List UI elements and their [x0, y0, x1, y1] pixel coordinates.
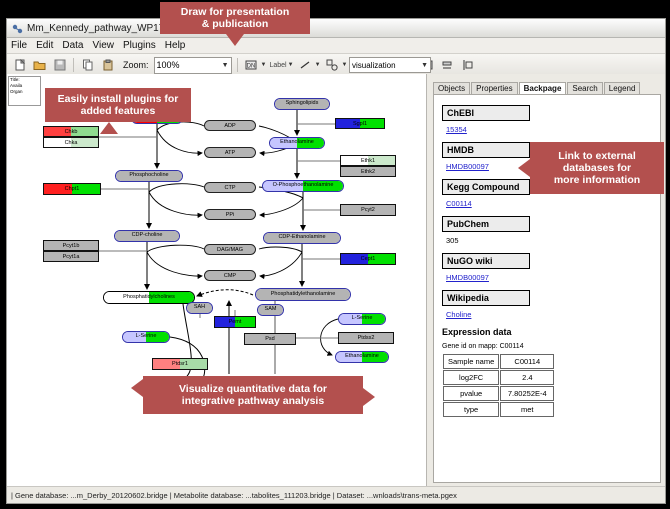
node-label: CTP — [225, 185, 236, 191]
side-panel-tabs: Objects Properties Backpage Search Legen… — [433, 80, 665, 94]
metabolite-node-ethanolamine-top[interactable]: Ethanolamine — [269, 137, 325, 149]
label-tool[interactable]: Label ▼ — [269, 62, 293, 69]
expression-row: Sample nameC00114 — [443, 354, 554, 369]
tab-properties[interactable]: Properties — [471, 82, 517, 94]
expression-row: log2FC2.4 — [443, 370, 554, 385]
datanode-icon: DN — [243, 57, 260, 74]
chevron-down-icon: ▼ — [222, 62, 229, 69]
menu-item-file[interactable]: File — [11, 40, 27, 51]
gene-node-pcyt1a[interactable]: Pcyt1a — [43, 251, 99, 262]
node-label: Ptdsr1 — [172, 361, 188, 367]
database-value-wikipedia[interactable]: Choline — [446, 310, 660, 319]
node-label: Pcyt1b — [63, 243, 80, 249]
expression-key: pvalue — [443, 386, 499, 401]
metabolite-node-sam[interactable]: SAM — [257, 304, 284, 316]
gene-node-ptdsr1[interactable]: Ptdsr1 — [152, 358, 208, 370]
database-header-hmdb: HMDB — [442, 142, 530, 158]
node-label: Cept1 — [361, 256, 376, 262]
node-label: Phosphocholine — [129, 173, 168, 179]
expression-value: 7.80252E-4 — [500, 386, 554, 401]
node-label: Chka — [65, 140, 78, 146]
datanode-tool[interactable]: DN ▼ — [243, 57, 267, 74]
chevron-down-icon-visualization: ▼ — [421, 62, 428, 69]
gene-node-pemt[interactable]: Pemt — [214, 316, 256, 328]
node-label: Ethanolamine — [345, 354, 379, 360]
gene-node-ethk1[interactable]: Ethk1 — [340, 155, 396, 166]
metabolite-node-l-serine-right[interactable]: L-Serine — [338, 313, 386, 325]
database-header-nugo-wiki: NuGO wiki — [442, 253, 530, 269]
node-label: Ethanolamine — [280, 140, 314, 146]
shape-tool[interactable]: ▼ — [324, 57, 348, 74]
metabolite-node-sah[interactable]: SAH — [186, 302, 213, 314]
expression-table: Sample nameC00114log2FC2.4pvalue7.80252E… — [442, 353, 555, 418]
node-label: Pemt — [229, 319, 242, 325]
status-bar-text: | Gene database: ...m_Derby_20120602.bri… — [11, 491, 457, 500]
expression-key: log2FC — [443, 370, 499, 385]
node-label: PPi — [226, 212, 235, 218]
zoom-select[interactable]: 100% ▼ — [154, 57, 232, 74]
paste-icon[interactable] — [99, 57, 116, 74]
node-label: CDP-choline — [132, 233, 163, 239]
pathway-canvas-panel[interactable]: Title: Availa Organ — [7, 74, 427, 487]
toolbar-separator-2 — [237, 58, 238, 72]
node-label: DAG/MAG — [217, 247, 243, 253]
database-header-pubchem: PubChem — [442, 216, 530, 232]
expression-value: 2.4 — [500, 370, 554, 385]
expression-key: type — [443, 402, 499, 417]
gene-node-cept1[interactable]: Cept1 — [340, 253, 396, 265]
expression-row: pvalue7.80252E-4 — [443, 386, 554, 401]
screenshot-root: Mm_Kennedy_pathway_WP1771_45176.gpml Fil… — [0, 0, 670, 509]
visualization-select[interactable]: visualization ▼ — [349, 57, 431, 73]
cofactor-node-ppi[interactable]: PPi — [204, 209, 256, 220]
node-label: ADP — [224, 123, 235, 129]
chevron-down-icon-line: ▼ — [315, 62, 321, 68]
node-label: CDP-Ethanolamine — [278, 235, 325, 241]
metabolite-node-phosphatidylcholines[interactable]: Phosphatidylcholines — [103, 291, 195, 304]
node-label: O-Phosphoethanolamine — [273, 183, 334, 189]
node-label: Psd — [265, 336, 274, 342]
pathvisio-window: Mm_Kennedy_pathway_WP1771_45176.gpml Fil… — [6, 18, 666, 504]
node-label: L-Serine — [136, 334, 157, 340]
metabolite-node-cdp-ethanolamine[interactable]: CDP-Ethanolamine — [263, 232, 341, 244]
metabolite-node-phosphocholine[interactable]: Phosphocholine — [115, 170, 183, 182]
metabolite-node-l-serine-left[interactable]: L-Serine — [122, 331, 170, 343]
gene-node-psd[interactable]: Psd — [244, 333, 296, 345]
gene-node-chkb[interactable]: Chkb — [43, 126, 99, 137]
tab-objects[interactable]: Objects — [433, 82, 470, 94]
gene-node-chka[interactable]: Chka — [43, 137, 99, 148]
gene-node-pcyt1b[interactable]: Pcyt1b — [43, 240, 99, 251]
node-label: Sphingolipids — [286, 101, 319, 107]
callout-visualize: Visualize quantitative data for integrat… — [143, 376, 363, 414]
main-body: Title: Availa Organ — [7, 74, 665, 487]
database-link-list: ChEBI15354HMDBHMDB00097Kegg CompoundC001… — [442, 105, 660, 319]
cofactor-node-adp[interactable]: ADP — [204, 120, 256, 131]
callout-draw-text: Draw for presentation & publication — [181, 6, 290, 30]
node-label: Chkb — [65, 129, 78, 135]
menu-item-view[interactable]: View — [92, 40, 114, 51]
zoom-value: 100% — [157, 60, 180, 70]
pathway-canvas[interactable]: Title: Availa Organ — [7, 74, 426, 487]
menu-item-help[interactable]: Help — [165, 40, 186, 51]
callout-draw: Draw for presentation & publication — [160, 2, 310, 34]
expression-value: met — [500, 402, 554, 417]
callout-draw-arrow — [226, 34, 244, 46]
node-label: Chpt1 — [65, 186, 80, 192]
database-header-chebi: ChEBI — [442, 105, 530, 121]
side-panel: Objects Properties Backpage Search Legen… — [427, 74, 665, 487]
save-disk-icon[interactable] — [51, 57, 68, 74]
database-header-wikipedia: Wikipedia — [442, 290, 530, 306]
zoom-label: Zoom: — [123, 60, 149, 70]
tab-search[interactable]: Search — [567, 82, 602, 94]
menu-bar: File Edit Data View Plugins Help — [7, 38, 665, 54]
stack-icon[interactable] — [438, 57, 455, 74]
cofactor-node-atp[interactable]: ATP — [204, 147, 256, 158]
line-icon — [297, 57, 314, 74]
node-label: Phosphatidylcholines — [123, 295, 175, 301]
node-label: Phosphatidylethanolamine — [271, 292, 336, 298]
gene-id-label: Gene id on mapp: C00114 — [442, 343, 660, 350]
cofactor-node-ctp[interactable]: CTP — [204, 182, 256, 193]
expression-key: Sample name — [443, 354, 499, 369]
database-value-pubchem: 305 — [446, 236, 660, 245]
database-value-kegg-compound[interactable]: C00114 — [446, 199, 660, 208]
node-label: Sgpl1 — [353, 121, 367, 127]
callout-visualize-text: Visualize quantitative data for integrat… — [179, 383, 327, 407]
expression-value: C00114 — [500, 354, 554, 369]
chevron-down-icon-datanode: ▼ — [261, 62, 267, 68]
node-label: Ethk2 — [361, 169, 375, 175]
title-bar: Mm_Kennedy_pathway_WP1771_45176.gpml — [7, 19, 665, 38]
group-icon[interactable] — [458, 57, 475, 74]
node-label: L-Serine — [352, 316, 373, 322]
callout-visualize-arrow-left — [131, 379, 143, 397]
database-header-kegg-compound: Kegg Compound — [442, 179, 530, 195]
label-tool-text: Label — [269, 62, 286, 69]
metabolite-node-cdp-choline[interactable]: CDP-choline — [114, 230, 180, 242]
node-label: CMP — [224, 273, 236, 279]
expression-row: typemet — [443, 402, 554, 417]
metabolite-node-phosphatidylethanolamine[interactable]: Phosphatidylethanolamine — [255, 288, 351, 301]
new-document-icon[interactable] — [11, 57, 28, 74]
metabolite-node-sphingolipids[interactable]: Sphingolipids — [274, 98, 330, 110]
gene-node-ptdss2[interactable]: Ptdss2 — [338, 332, 394, 344]
callout-plugins-arrow — [100, 122, 118, 134]
node-label: SAM — [265, 307, 277, 313]
node-label: Pcyt1a — [63, 254, 80, 260]
callout-plugins: Easily install plugins for added feature… — [45, 88, 191, 122]
pathway-info-block: Title: Availa Organ — [8, 76, 41, 106]
cofactor-node-cmp[interactable]: CMP — [204, 270, 256, 281]
copy-icon[interactable] — [79, 57, 96, 74]
menu-item-edit[interactable]: Edit — [36, 40, 53, 51]
chevron-down-icon-shape: ▼ — [342, 62, 348, 68]
shape-icon — [324, 57, 341, 74]
node-label: SAH — [194, 305, 205, 311]
gene-node-chpt1[interactable]: Chpt1 — [43, 183, 101, 195]
pathway-organism-label: Organ — [10, 89, 40, 95]
svg-text:DN: DN — [247, 64, 256, 70]
node-label: Ptdss2 — [358, 335, 375, 341]
line-tool[interactable]: ▼ — [297, 57, 321, 74]
metabolite-node-o-phosphoethanolamine[interactable]: O-Phosphoethanolamine — [262, 180, 344, 192]
gene-node-sgpl1[interactable]: Sgpl1 — [335, 118, 385, 129]
expression-data-heading: Expression data — [442, 327, 660, 337]
app-icon — [11, 22, 23, 34]
callout-visualize-arrow-right — [363, 388, 375, 406]
cofactor-node-dagmag[interactable]: DAG/MAG — [204, 244, 256, 255]
database-value-chebi[interactable]: 15354 — [446, 125, 660, 134]
node-label: ATP — [225, 150, 235, 156]
tab-legend[interactable]: Legend — [604, 82, 641, 94]
toolbar-separator — [73, 58, 74, 72]
menu-item-plugins[interactable]: Plugins — [123, 40, 156, 51]
database-value-nugo-wiki[interactable]: HMDB00097 — [446, 273, 660, 282]
callout-link-text: Link to external databases for more info… — [554, 150, 640, 186]
node-label: Ethk1 — [361, 158, 375, 164]
visualization-value: visualization — [352, 61, 396, 70]
metabolite-node-ethanolamine-bottom[interactable]: Ethanolamine — [335, 351, 389, 363]
callout-plugins-text: Easily install plugins for added feature… — [58, 93, 179, 117]
callout-link-arrow — [518, 159, 530, 177]
status-bar: | Gene database: ...m_Derby_20120602.bri… — [7, 486, 665, 503]
open-folder-icon[interactable] — [31, 57, 48, 74]
callout-link: Link to external databases for more info… — [530, 142, 664, 194]
gene-node-ethk2[interactable]: Ethk2 — [340, 166, 396, 177]
node-label: Pcyt2 — [361, 207, 375, 213]
menu-item-data[interactable]: Data — [62, 40, 83, 51]
gene-node-pcyt2[interactable]: Pcyt2 — [340, 204, 396, 216]
chevron-down-icon-label: ▼ — [288, 62, 294, 68]
